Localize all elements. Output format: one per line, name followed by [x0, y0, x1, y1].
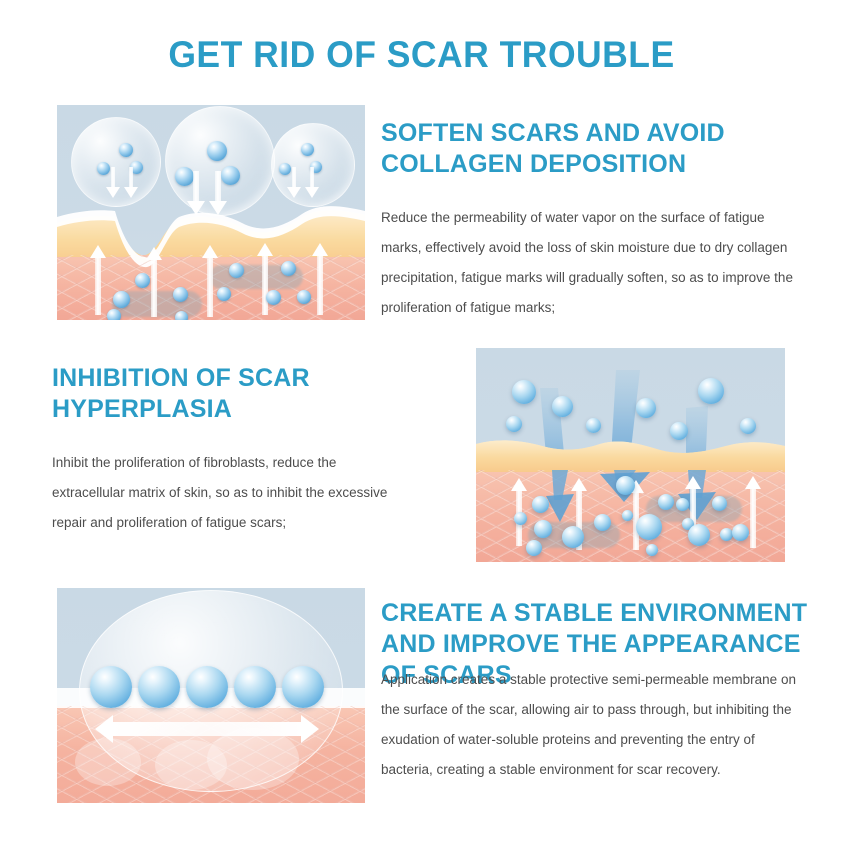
- water-droplet: [173, 287, 188, 302]
- membrane-sphere: [138, 666, 180, 708]
- water-droplet: [514, 512, 527, 525]
- membrane-sphere: [282, 666, 324, 708]
- section-body-stable-environment: Application creates a stable protective …: [381, 665, 801, 785]
- water-droplet: [297, 290, 311, 304]
- water-droplet: [732, 524, 749, 541]
- water-droplet: [646, 544, 658, 556]
- water-droplet: [594, 514, 611, 531]
- section-body-scar-hyperplasia: Inhibit the proliferation of fibroblasts…: [52, 448, 402, 538]
- water-droplet: [107, 309, 121, 320]
- water-droplet: [670, 422, 688, 440]
- water-droplet: [534, 520, 552, 538]
- water-droplet: [135, 273, 150, 288]
- water-droplet: [586, 418, 601, 433]
- water-droplet: [712, 496, 727, 511]
- water-droplet: [720, 528, 733, 541]
- water-droplet: [688, 524, 710, 546]
- water-droplet: [616, 476, 635, 495]
- water-droplet: [622, 510, 633, 521]
- section-heading-soften-scars: SOFTEN SCARS AND AVOID COLLAGEN DEPOSITI…: [381, 118, 801, 180]
- water-droplet: [636, 398, 656, 418]
- water-droplet: [526, 540, 542, 556]
- water-droplet: [281, 261, 296, 276]
- water-droplet: [740, 418, 756, 434]
- water-droplet: [532, 496, 549, 513]
- membrane-sphere: [234, 666, 276, 708]
- water-droplet: [175, 311, 188, 320]
- water-droplet: [217, 287, 231, 301]
- water-droplet: [698, 378, 724, 404]
- water-droplet: [636, 514, 662, 540]
- water-droplet: [229, 263, 244, 278]
- membrane-sphere: [90, 666, 132, 708]
- water-droplet: [512, 380, 536, 404]
- illustration-soften-scars: [57, 105, 365, 320]
- poster-root: GET RID OF SCAR TROUBLE: [0, 0, 843, 843]
- water-droplet: [552, 396, 573, 417]
- water-droplet: [266, 290, 281, 305]
- membrane-sphere: [186, 666, 228, 708]
- water-droplet: [676, 498, 689, 511]
- dome-reflection: [75, 738, 141, 786]
- water-droplet: [562, 526, 584, 548]
- water-droplet: [113, 291, 130, 308]
- page-title: GET RID OF SCAR TROUBLE: [17, 34, 826, 76]
- illustration-stable-environment: [57, 588, 365, 803]
- water-droplet: [658, 494, 674, 510]
- water-droplet: [506, 416, 522, 432]
- illustration-scar-hyperplasia: [476, 348, 785, 562]
- section-heading-scar-hyperplasia: INHIBITION OF SCAR HYPERPLASIA: [52, 363, 412, 425]
- arrow-double-horizontal-icon: [95, 715, 319, 743]
- section-body-soften-scars: Reduce the permeability of water vapor o…: [381, 203, 796, 323]
